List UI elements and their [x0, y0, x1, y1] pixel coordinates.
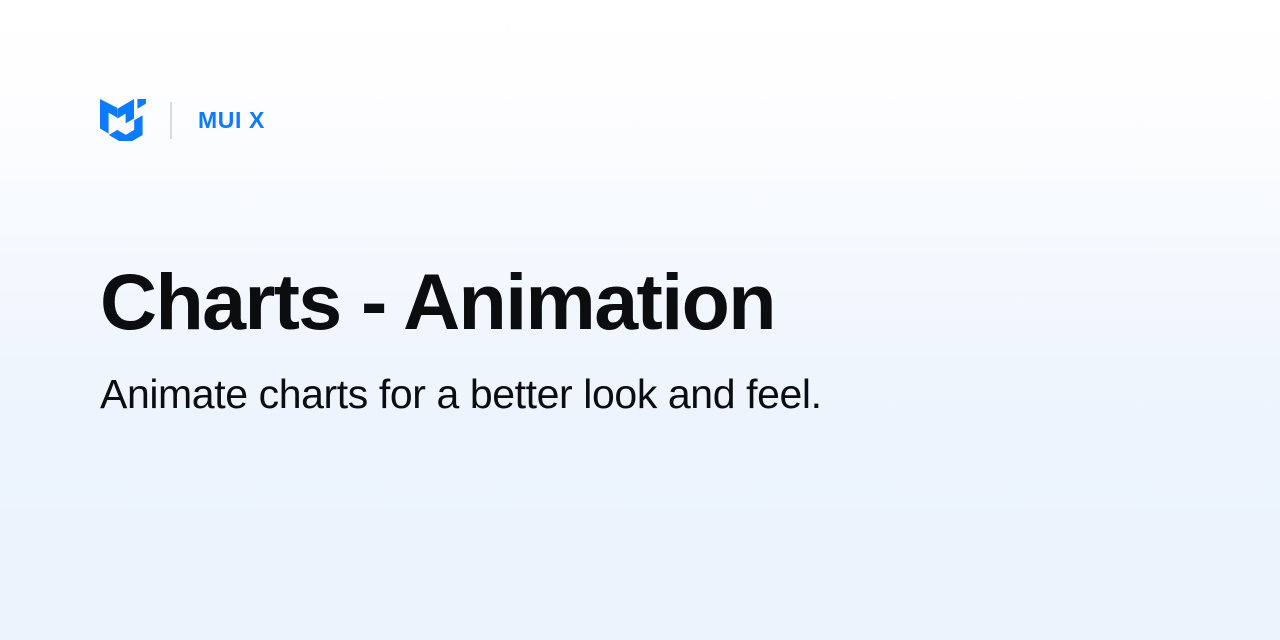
brand-lockup: MUI X [100, 98, 265, 142]
brand-name: MUI X [198, 109, 265, 132]
page-title: Charts - Animation [100, 262, 1200, 341]
brand-divider [170, 102, 172, 139]
page-subtitle: Animate charts for a better look and fee… [100, 371, 1200, 418]
og-card: MUI X Charts - Animation Animate charts … [0, 0, 1280, 640]
mui-logo-icon [100, 99, 146, 141]
hero-section: Charts - Animation Animate charts for a … [100, 262, 1200, 418]
